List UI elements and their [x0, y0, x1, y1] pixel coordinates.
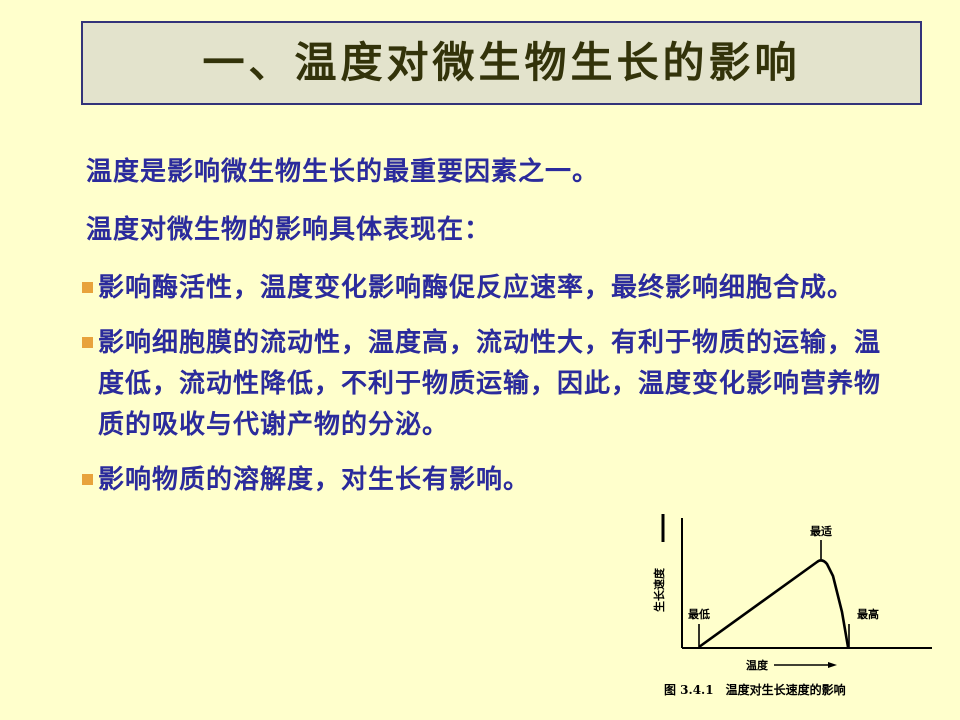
growth-rate-temperature-chart: 生长速度 最低 最适 最高 温度 图 3.4.1 温度对生长速度的影响: [636, 512, 952, 712]
body-paragraph-2: 温度对微生物的影响具体表现在：: [80, 210, 890, 251]
chart-x-axis-arrow-head: [828, 662, 837, 668]
figure-caption: 图 3.4.1 温度对生长速度的影响: [664, 682, 846, 697]
growth-rate-temperature-figure: 生长速度 最低 最适 最高 温度 图 3.4.1 温度对生长速度的影响: [636, 512, 952, 712]
bullet-item-1-label: 影响酶活性，温度变化影响酶促反应速率，最终影响细胞合成。: [98, 273, 854, 303]
bullet-item-3-label: 影响物质的溶解度，对生长有影响。: [98, 465, 530, 495]
chart-min-label: 最低: [688, 607, 710, 621]
chart-growth-curve: [699, 560, 848, 647]
bullet-item-2-label: 影响细胞膜的流动性，温度高，流动性大，有利于物质的运输，温度低，流动性降低，不利…: [98, 328, 881, 440]
chart-y-axis-label: 生长速度: [652, 567, 666, 612]
chart-max-label: 最高: [857, 607, 879, 621]
slide-title-box: 一、温度对微生物生长的影响: [81, 21, 922, 105]
chart-opt-label: 最适: [810, 524, 832, 538]
body-paragraph-1: 温度是影响微生物生长的最重要因素之一。: [80, 152, 890, 193]
bullet-item-1: 影响酶活性，温度变化影响酶促反应速率，最终影响细胞合成。: [80, 268, 890, 309]
chart-x-axis-label: 温度: [746, 658, 769, 672]
square-bullet-icon: [82, 282, 93, 293]
page-title: 一、温度对微生物生长的影响: [202, 42, 800, 84]
bullet-item-3: 影响物质的溶解度，对生长有影响。: [80, 460, 890, 501]
slide-body: 温度是影响微生物生长的最重要因素之一。 温度对微生物的影响具体表现在： 影响酶活…: [80, 152, 890, 515]
square-bullet-icon: [82, 337, 93, 348]
square-bullet-icon: [82, 474, 93, 485]
bullet-item-2: 影响细胞膜的流动性，温度高，流动性大，有利于物质的运输，温度低，流动性降低，不利…: [80, 323, 890, 446]
